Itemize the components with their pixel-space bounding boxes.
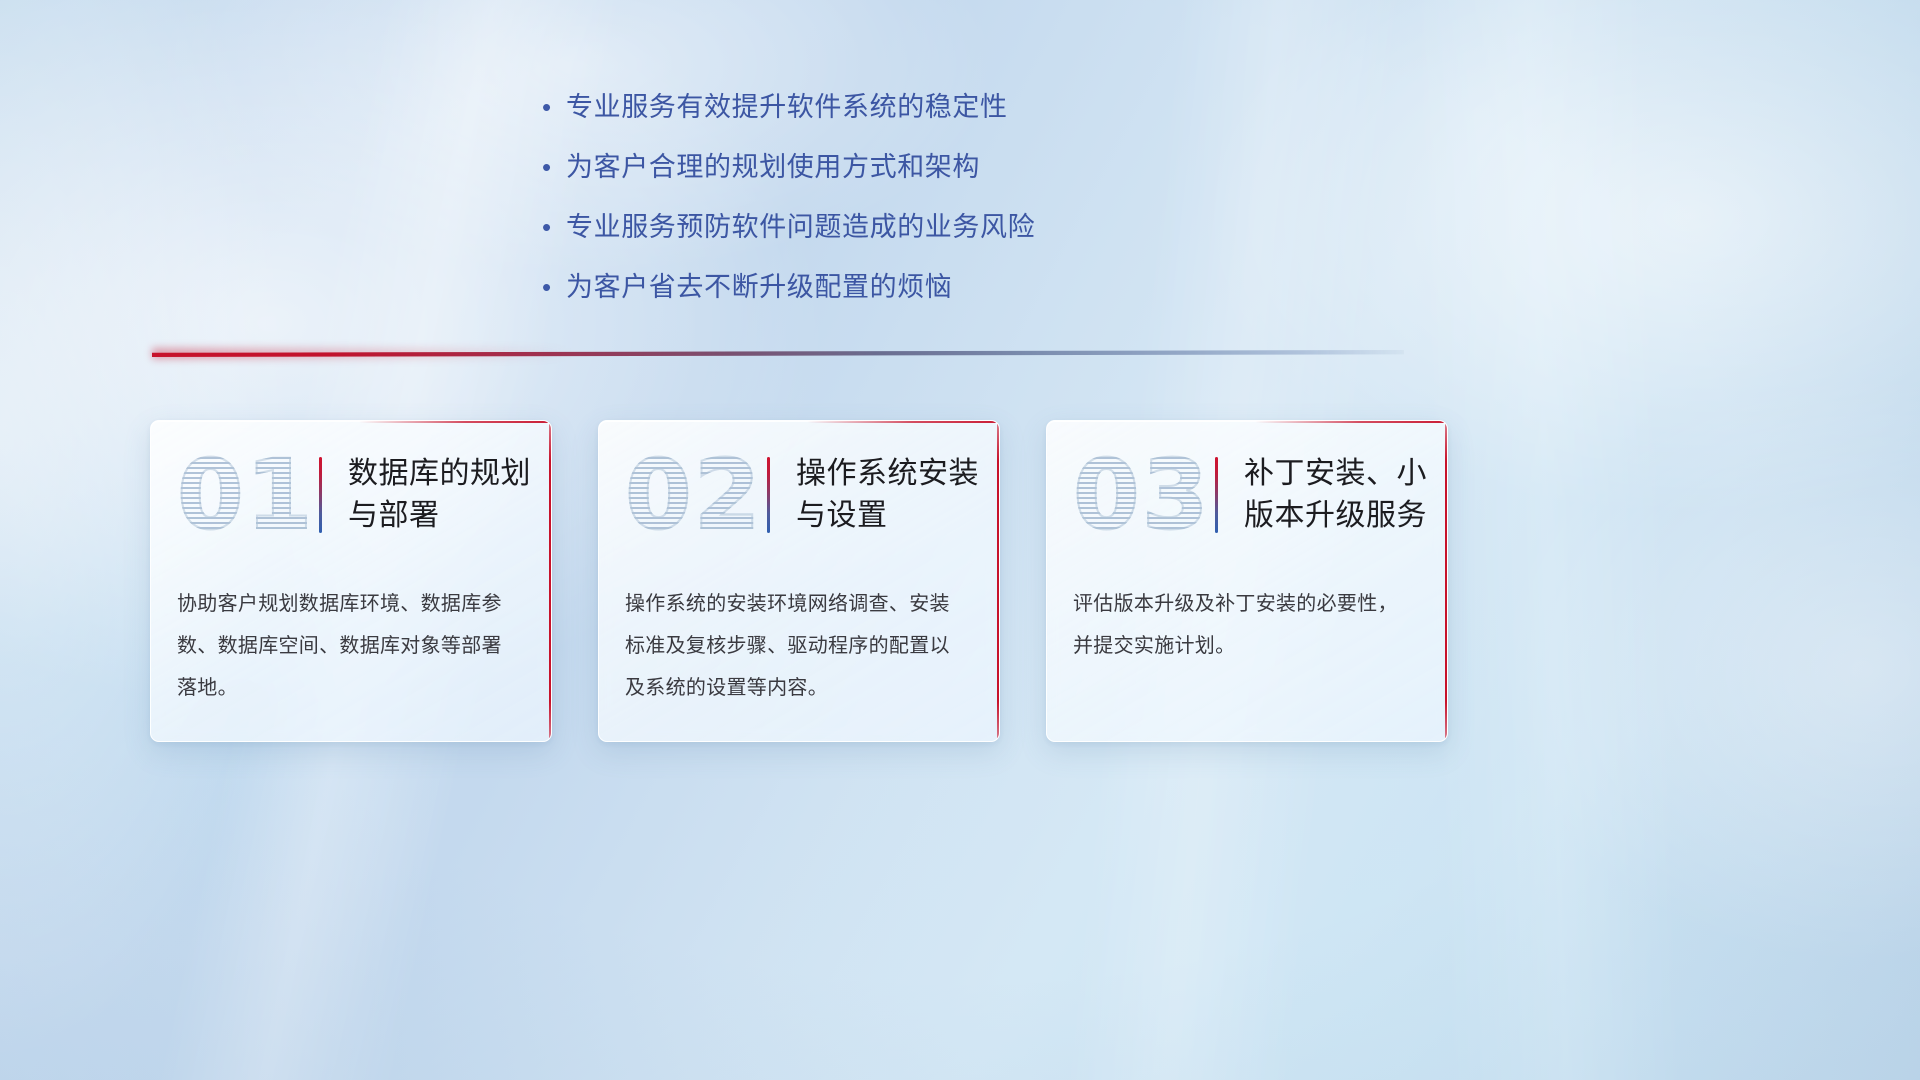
bullet-text: 为客户合理的规划使用方式和架构 <box>566 150 980 184</box>
card-title: 数据库的规划与部署 <box>348 453 551 537</box>
card-header: 01 数据库的规划与部署 <box>151 421 551 569</box>
card-header: 03 补丁安装、小版本升级服务 <box>1047 421 1447 569</box>
card-divider-bar <box>319 457 322 533</box>
card-divider-bar <box>1215 457 1218 533</box>
bullet-dot-icon: • <box>536 270 566 304</box>
service-card-03[interactable]: 03 补丁安装、小版本升级服务 评估版本升级及补丁安装的必要性，并提交实施计划。 <box>1046 420 1448 742</box>
card-description: 协助客户规划数据库环境、数据库参数、数据库空间、数据库对象等部署落地。 <box>151 569 551 709</box>
bullet-dot-icon: • <box>536 90 566 124</box>
bullet-text: 为客户省去不断升级配置的烦恼 <box>566 270 952 304</box>
service-card-01[interactable]: 01 数据库的规划与部署 协助客户规划数据库环境、数据库参数、数据库空间、数据库… <box>150 420 552 742</box>
service-card-02[interactable]: 02 操作系统安装与设置 操作系统的安装环境网络调查、安装标准及复核步骤、驱动程… <box>598 420 1000 742</box>
list-item: • 专业服务有效提升软件系统的稳定性 <box>536 90 1176 124</box>
benefits-bullet-list: • 专业服务有效提升软件系统的稳定性 • 为客户合理的规划使用方式和架构 • 专… <box>536 90 1176 330</box>
bullet-dot-icon: • <box>536 210 566 244</box>
card-title: 补丁安装、小版本升级服务 <box>1244 453 1447 537</box>
card-divider-bar <box>767 457 770 533</box>
card-number: 01 <box>177 441 309 549</box>
card-description: 操作系统的安装环境网络调查、安装标准及复核步骤、驱动程序的配置以及系统的设置等内… <box>599 569 999 709</box>
card-number: 03 <box>1073 441 1205 549</box>
service-cards-container: 01 数据库的规划与部署 协助客户规划数据库环境、数据库参数、数据库空间、数据库… <box>150 420 1450 742</box>
card-description: 评估版本升级及补丁安装的必要性，并提交实施计划。 <box>1047 569 1447 667</box>
list-item: • 为客户省去不断升级配置的烦恼 <box>536 270 1176 304</box>
bullet-text: 专业服务预防软件问题造成的业务风险 <box>566 210 1035 244</box>
section-divider <box>152 346 1404 362</box>
list-item: • 专业服务预防软件问题造成的业务风险 <box>536 210 1176 244</box>
card-number: 02 <box>625 441 757 549</box>
list-item: • 为客户合理的规划使用方式和架构 <box>536 150 1176 184</box>
card-header: 02 操作系统安装与设置 <box>599 421 999 569</box>
bullet-text: 专业服务有效提升软件系统的稳定性 <box>566 90 1008 124</box>
card-title: 操作系统安装与设置 <box>796 453 999 537</box>
slide-root: • 专业服务有效提升软件系统的稳定性 • 为客户合理的规划使用方式和架构 • 专… <box>0 0 1920 1080</box>
bullet-dot-icon: • <box>536 150 566 184</box>
